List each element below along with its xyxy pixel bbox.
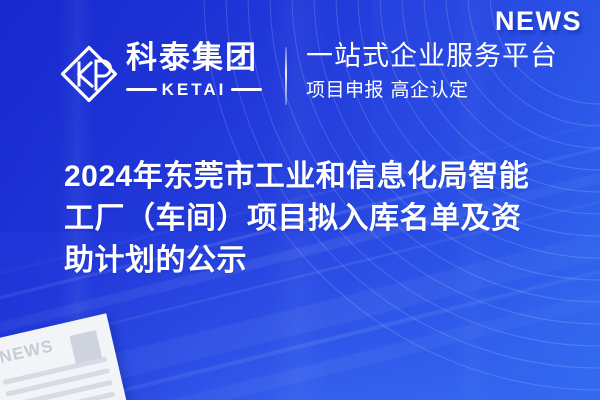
kp-diamond-logo-icon xyxy=(58,43,120,105)
tagline-primary: 一站式企业服务平台 xyxy=(306,41,558,72)
brand-rule-left xyxy=(126,88,157,91)
brand-name-en: KETAI xyxy=(162,81,227,98)
brand-divider xyxy=(285,47,287,105)
brand-header: 科泰集团 KETAI 一站式企业服务平台 项目申报 高企认定 xyxy=(0,34,600,118)
brand-rule-right xyxy=(231,88,262,91)
page-title-line: 助计划的公示 xyxy=(64,240,576,282)
page-title-line: 工厂（车间）项目拟入库名单及资 xyxy=(64,198,576,240)
tagline-secondary: 项目申报 高企认定 xyxy=(306,79,469,102)
news-word-label: NEWS xyxy=(495,6,582,37)
brand-name-cn: 科泰集团 xyxy=(126,42,258,73)
page-title: 2024年东莞市工业和信息化局智能 工厂（车间）项目拟入库名单及资 助计划的公示 xyxy=(64,156,576,282)
newspaper-masthead: NEWS xyxy=(0,336,55,368)
news-banner-image: NEWS 科泰集团 KETAI 一站式企业服 xyxy=(0,0,600,400)
brand-name-en-row: KETAI xyxy=(126,81,262,98)
page-title-line: 2024年东莞市工业和信息化局智能 xyxy=(64,156,576,198)
